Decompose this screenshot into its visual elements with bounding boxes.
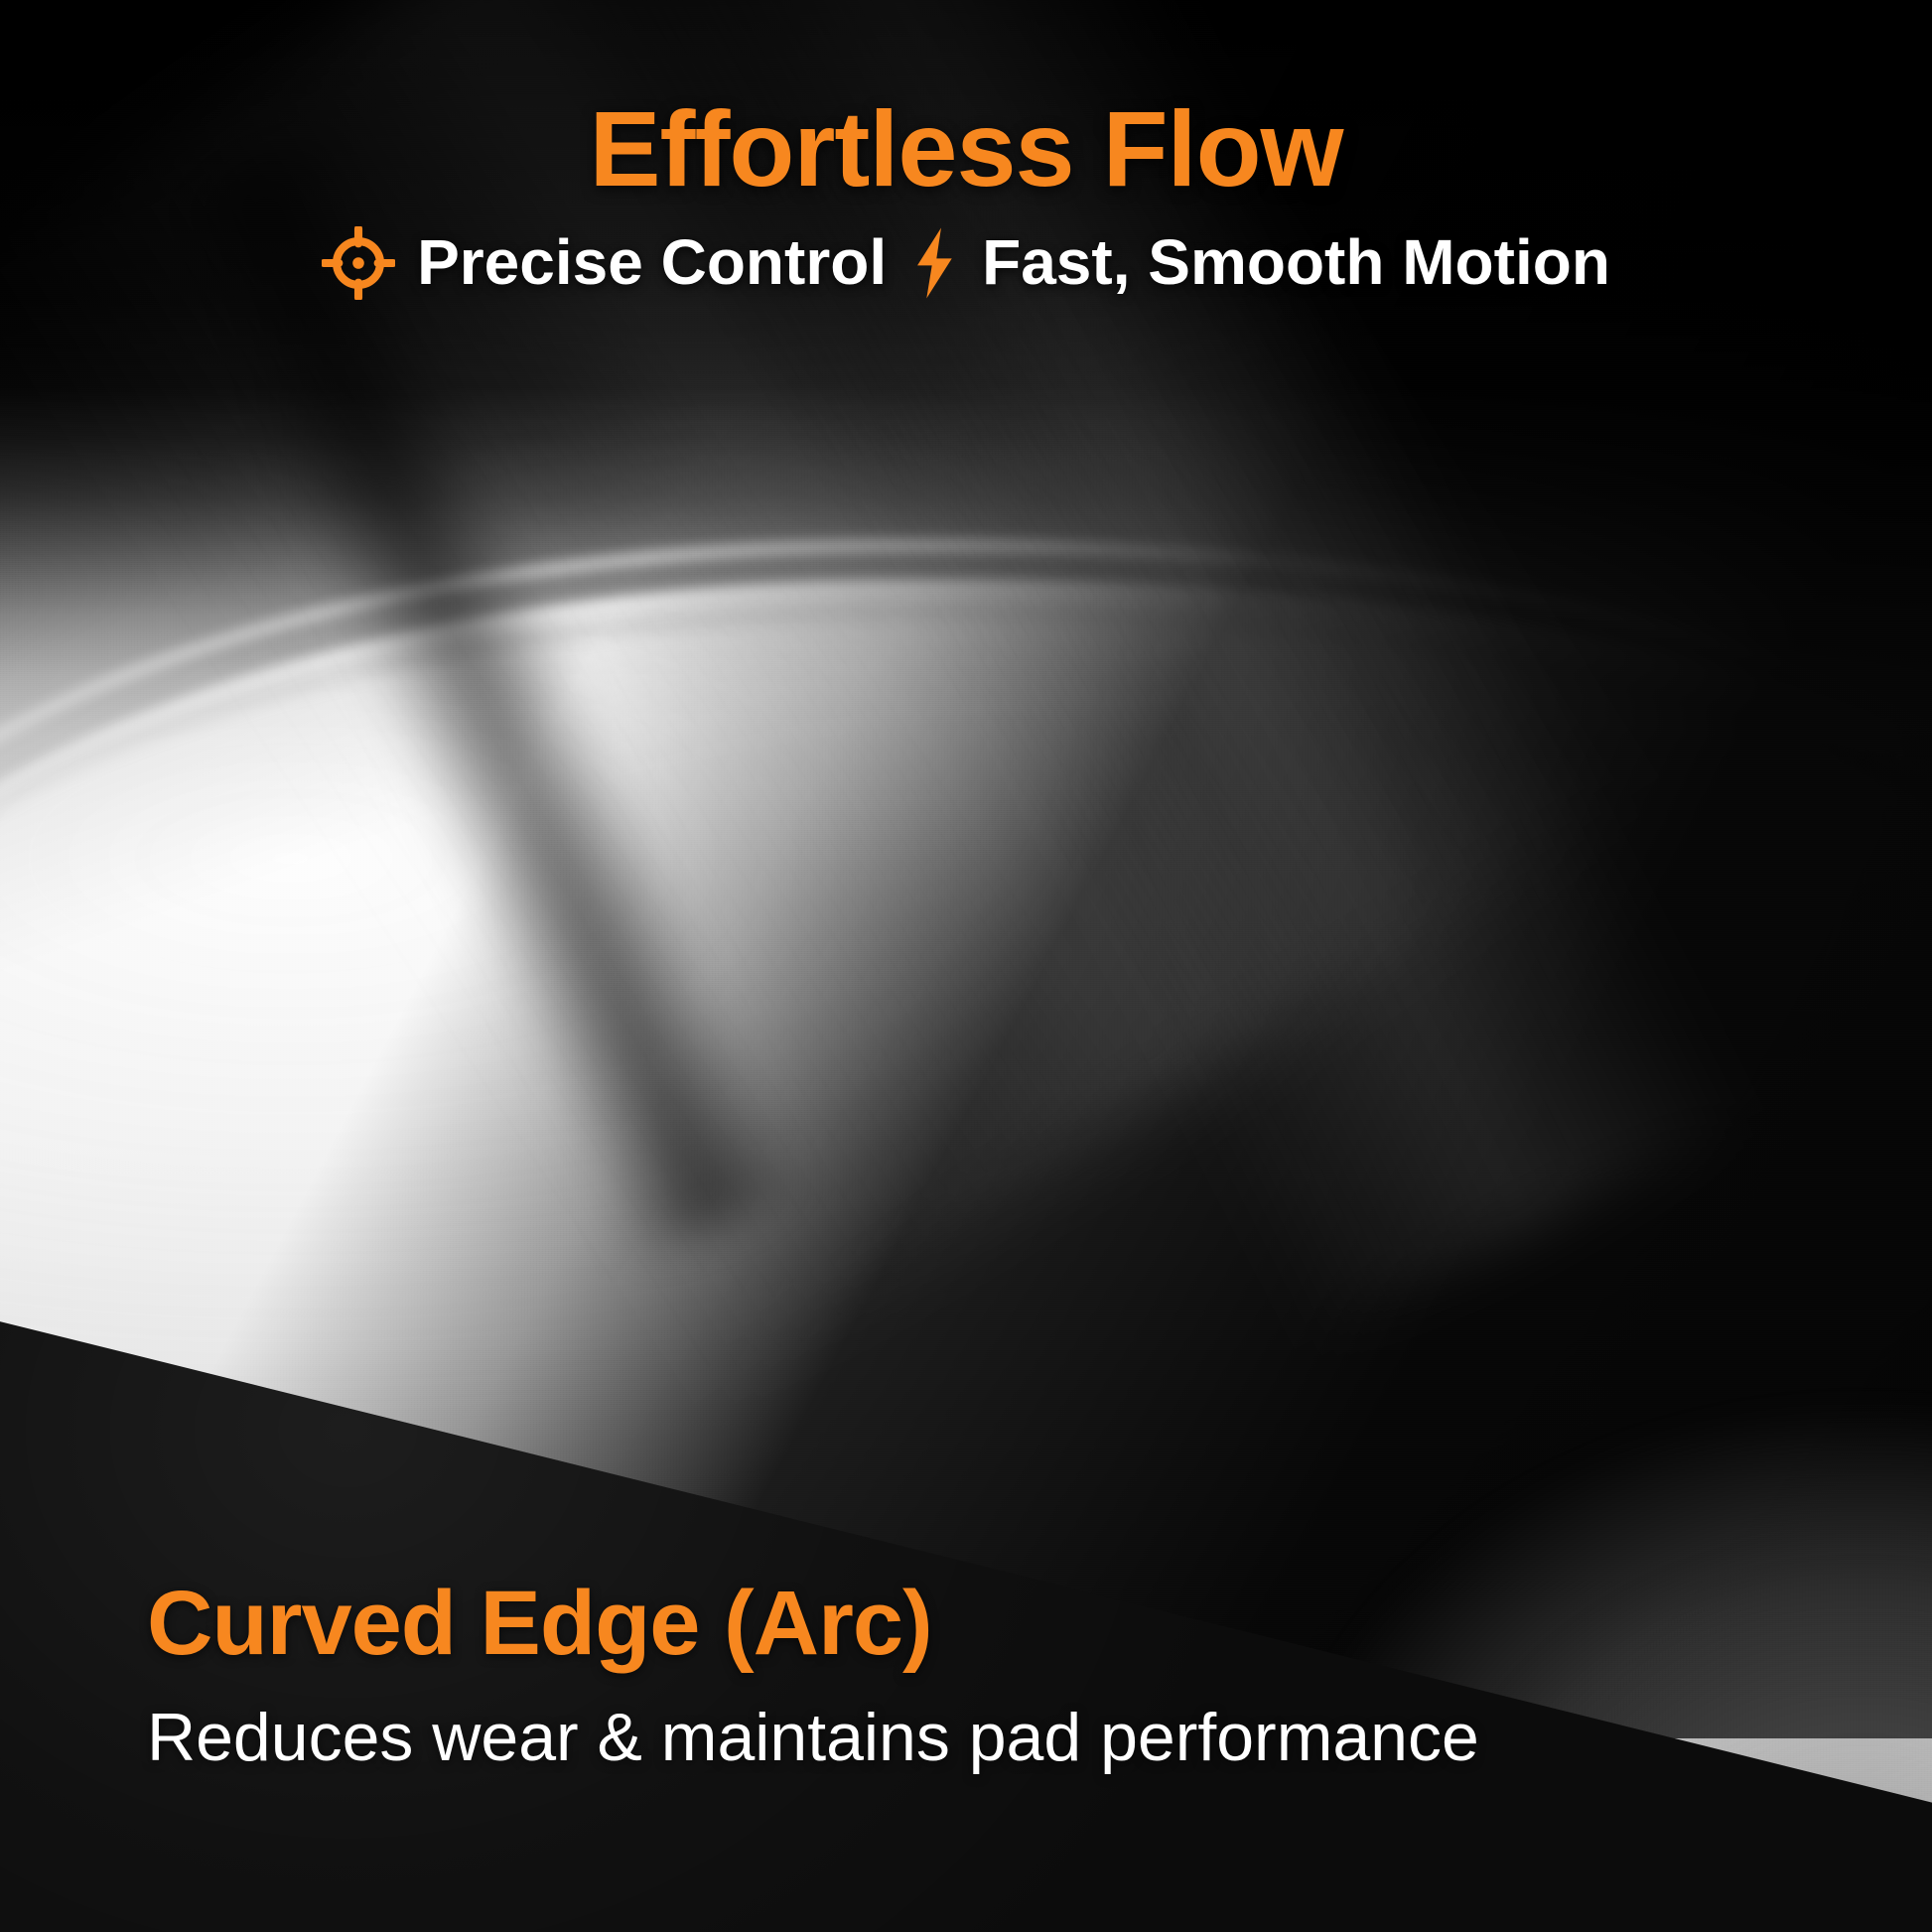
feature-label-fast-smooth-motion: Fast, Smooth Motion: [982, 229, 1610, 296]
page-title: Effortless Flow: [0, 95, 1932, 203]
footer-block: Curved Edge (Arc) Reduces wear & maintai…: [147, 1578, 1479, 1773]
lightning-bolt-icon: [908, 226, 960, 300]
feature-row: Precise Control Fast, Smooth Motion: [0, 226, 1932, 300]
header-block: Effortless Flow Precise Control: [0, 95, 1932, 300]
footer-subtitle: Reduces wear & maintains pad performance: [147, 1703, 1479, 1773]
product-feature-card: Effortless Flow Precise Control: [0, 0, 1932, 1932]
crosshair-target-icon: [322, 226, 395, 300]
footer-title: Curved Edge (Arc): [147, 1578, 1479, 1669]
feature-label-precise-control: Precise Control: [417, 229, 887, 296]
